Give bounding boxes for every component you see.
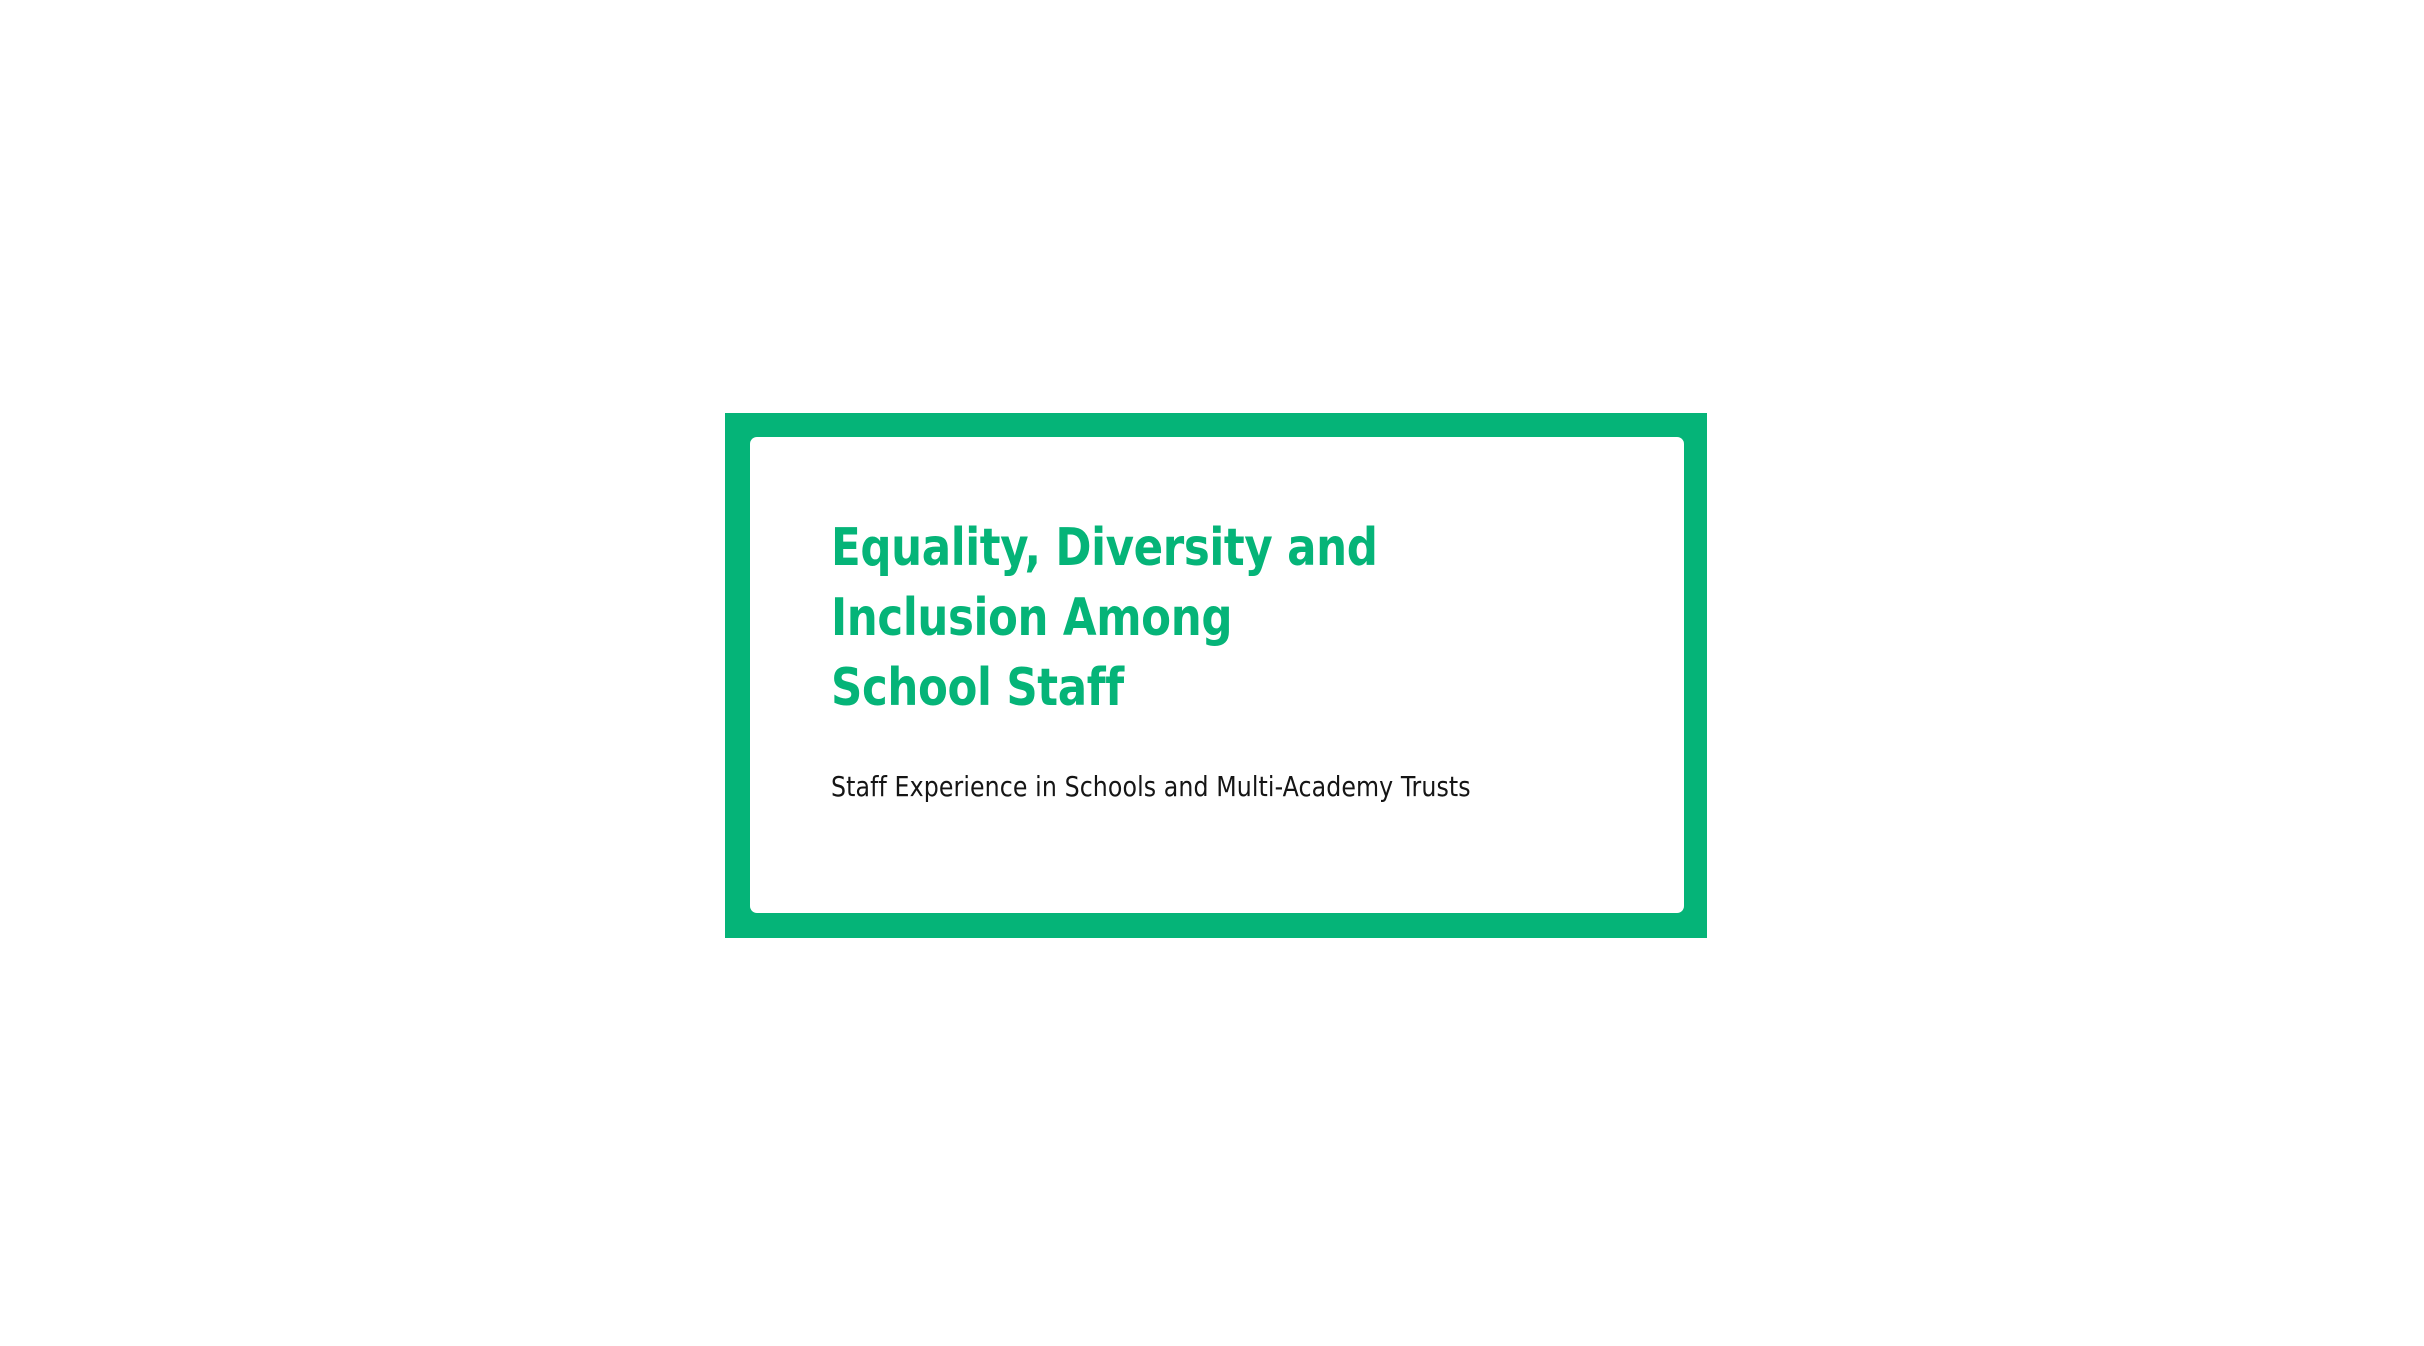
title-card-frame: Equality, Diversity and Inclusion Among …	[725, 413, 1707, 938]
slide-canvas: Equality, Diversity and Inclusion Among …	[0, 0, 2424, 1346]
title-card-panel: Equality, Diversity and Inclusion Among …	[750, 437, 1684, 913]
title-text-block: Equality, Diversity and Inclusion Among …	[831, 513, 1644, 723]
page-subtitle: Staff Experience in Schools and Multi-Ac…	[831, 769, 1471, 805]
page-title: Equality, Diversity and Inclusion Among …	[831, 513, 1587, 723]
